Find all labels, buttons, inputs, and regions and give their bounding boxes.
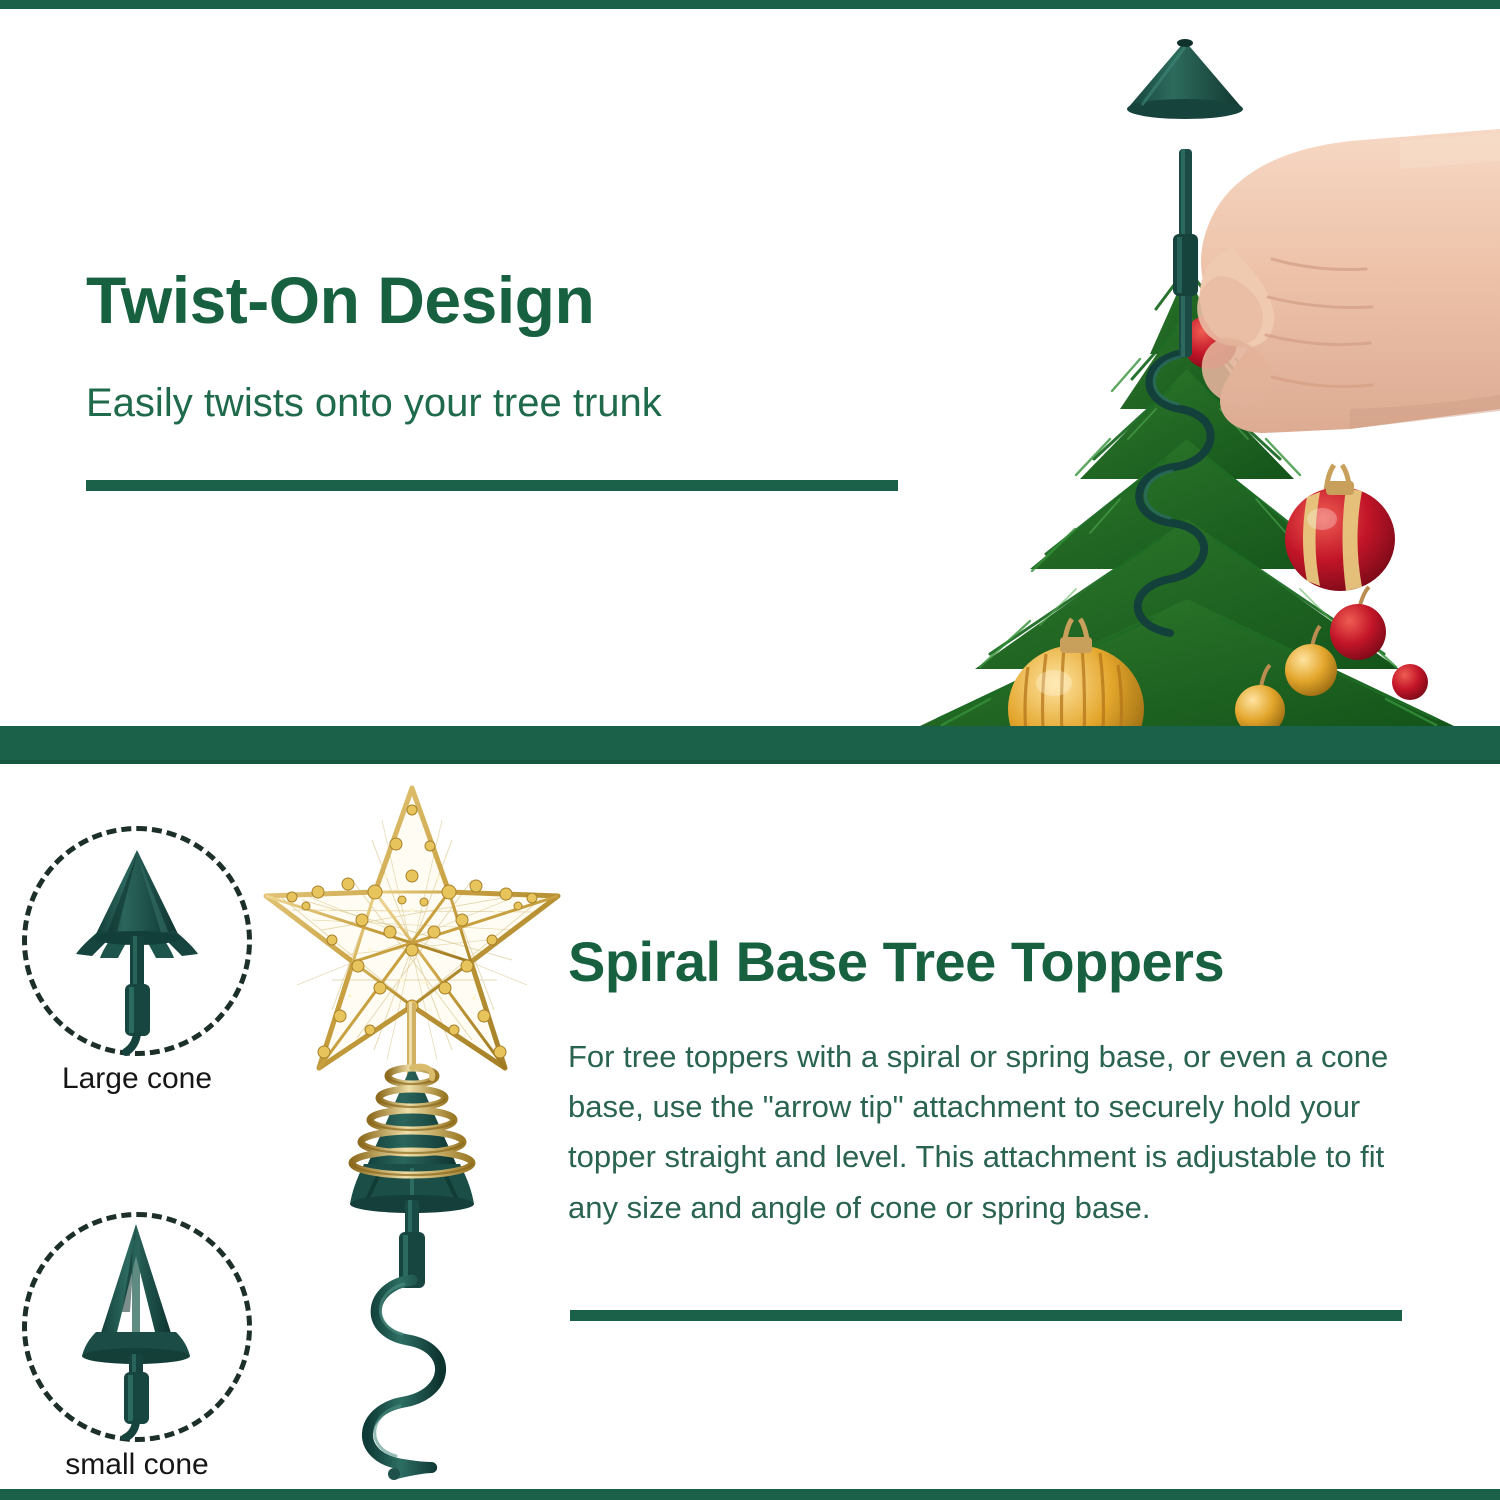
top-heading: Twist-On Design <box>86 267 594 333</box>
spring-cone-base <box>350 1064 474 1213</box>
star-topper-spiral-base-product <box>262 780 562 1489</box>
bottom-accent-rule <box>570 1310 1402 1321</box>
bottom-feature-section: Large cone <box>0 764 1500 1489</box>
bottom-body-text: For tree toppers with a spiral or spring… <box>568 1032 1436 1233</box>
product-feature-page: Twist-On Design Easily twists onto your … <box>0 0 1500 1500</box>
bottom-border-band <box>0 1489 1500 1500</box>
hand-with-spiral-stake-over-tree-photo <box>880 9 1500 726</box>
callout-label-small-cone: small cone <box>22 1448 252 1482</box>
top-subheading: Easily twists onto your tree trunk <box>86 379 662 427</box>
top-feature-section: Twist-On Design Easily twists onto your … <box>0 9 1500 726</box>
ornament-red-far-right <box>1392 664 1428 700</box>
large-cone-icon <box>70 844 204 1056</box>
top-border-band <box>0 0 1500 9</box>
small-cone-icon <box>70 1220 204 1440</box>
bottom-heading: Spiral Base Tree Toppers <box>568 934 1224 990</box>
top-accent-rule <box>86 480 898 491</box>
callout-label-large-cone: Large cone <box>22 1062 252 1096</box>
middle-divider-band <box>0 726 1500 764</box>
